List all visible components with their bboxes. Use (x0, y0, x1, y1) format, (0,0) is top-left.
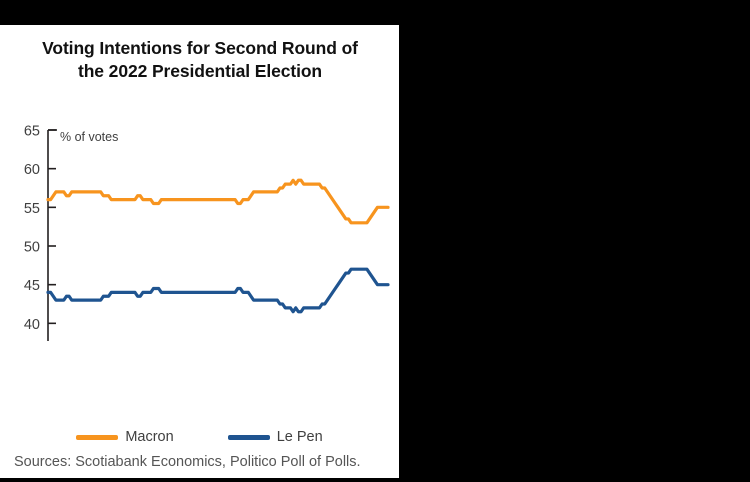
screenshot-root: Voting Intentions for Second Round of th… (0, 0, 750, 482)
chart-card: Voting Intentions for Second Round of th… (0, 25, 399, 478)
y-axis-tick-label: 65 (24, 124, 40, 140)
line-chart-svg: 35404550556065 % of votes Jan-03Jan-10Ja… (0, 91, 399, 341)
y-axis-tick-labels: 35404550556065 (24, 124, 40, 342)
legend-swatch-le-pen (228, 435, 270, 440)
legend-label-le-pen: Le Pen (277, 429, 323, 445)
chart-title-line-1: Voting Intentions for Second Round of (10, 37, 390, 60)
y-axis-unit-label: % of votes (60, 130, 118, 144)
legend-swatch-macron (76, 435, 118, 440)
y-axis-tick-label: 55 (24, 201, 40, 217)
chart-title-line-2: the 2022 Presidential Election (10, 60, 390, 83)
series-line-macron (48, 180, 388, 223)
series-line-le-pen (48, 269, 388, 312)
y-axis-tick-label: 50 (24, 240, 40, 256)
chart-source-note: Sources: Scotiabank Economics, Politico … (14, 453, 386, 473)
legend-item-macron: Macron (76, 429, 173, 445)
y-axis-tick-label: 45 (24, 278, 40, 294)
legend-item-le-pen: Le Pen (228, 429, 323, 445)
y-axis-tick-label: 40 (24, 317, 40, 333)
chart-plot-area: 35404550556065 % of votes Jan-03Jan-10Ja… (0, 91, 399, 341)
y-axis-tick-label: 60 (24, 162, 40, 178)
chart-title: Voting Intentions for Second Round of th… (10, 37, 390, 83)
legend-label-macron: Macron (125, 429, 173, 445)
chart-legend: Macron Le Pen (0, 425, 399, 449)
